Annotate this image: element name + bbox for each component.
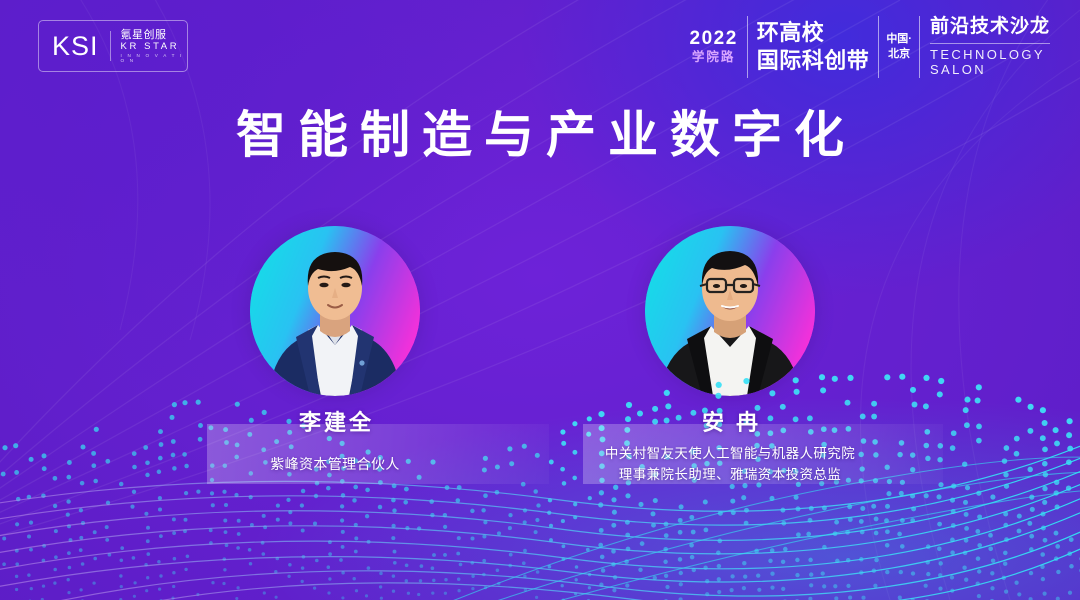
ksi-wordmark: KSI	[39, 33, 110, 60]
event-year: 2022	[690, 29, 738, 50]
slide-canvas: KSI 氪星创服 KR STAR I N N O V A T I O N 202…	[0, 0, 1080, 600]
speaker-name-1: 李建全	[125, 410, 545, 436]
event-main-name: 环高校 国际科创带	[748, 14, 879, 80]
event-city-line2: 北京	[888, 48, 910, 62]
salon-rule	[930, 43, 1050, 44]
event-lockup: 2022 学院路 环高校 国际科创带 中国· 北京 前沿技术沙龙 TECHNOL…	[690, 14, 1050, 80]
event-year-block: 2022 学院路	[690, 14, 747, 80]
speaker-name-2: 安 冉	[520, 410, 940, 436]
event-city: 中国· 北京	[879, 14, 919, 80]
ksi-chinese-name: 氪星创服	[121, 29, 187, 41]
ksi-tagline: I N N O V A T I O N	[121, 53, 187, 63]
event-name-line1: 环高校	[757, 20, 870, 47]
event-salon-cn: 前沿技术沙龙	[930, 16, 1050, 39]
event-city-line1: 中国·	[886, 33, 912, 47]
ksi-logo[interactable]: KSI 氪星创服 KR STAR I N N O V A T I O N	[38, 20, 188, 72]
page-title: 智能制造与产业数字化	[0, 108, 1080, 163]
avatar	[645, 226, 815, 396]
event-salon-block: 前沿技术沙龙 TECHNOLOGY SALON	[920, 14, 1050, 80]
event-year-subtitle: 学院路	[692, 50, 736, 66]
header-bar: KSI 氪星创服 KR STAR I N N O V A T I O N 202…	[0, 0, 1080, 92]
event-salon-en-line2: SALON	[930, 62, 1050, 78]
speaker-role-2-line1: 中关村智友天使人工智能与机器人研究院	[520, 444, 940, 465]
speaker-photo-1	[250, 226, 420, 396]
speaker-role-1: 紫峰资本管理合伙人	[125, 454, 545, 476]
speaker-card-2: 安 冉 中关村智友天使人工智能与机器人研究院 理事兼院长助理、雅瑞资本投资总监	[520, 226, 940, 486]
ksi-logo-text: 氪星创服 KR STAR I N N O V A T I O N	[111, 29, 187, 64]
speaker-card-1: 李建全 紫峰资本管理合伙人	[125, 226, 545, 476]
ksi-english-name: KR STAR	[121, 42, 187, 52]
event-salon-en-line1: TECHNOLOGY	[930, 47, 1050, 63]
speaker-role-2-line2: 理事兼院长助理、雅瑞资本投资总监	[520, 465, 940, 486]
avatar	[250, 226, 420, 396]
speaker-section: 李建全 紫峰资本管理合伙人	[0, 226, 1080, 496]
event-name-line2: 国际科创带	[757, 48, 870, 75]
speaker-photo-2	[645, 226, 815, 396]
